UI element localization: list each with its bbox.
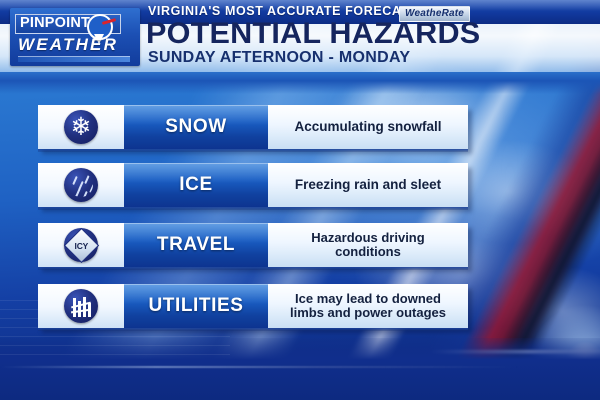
hazard-description-line: conditions bbox=[311, 245, 424, 259]
hazard-desc-panel: Hazardous driving conditions bbox=[268, 223, 468, 267]
hazard-row-ice: ICE Freezing rain and sleet bbox=[38, 163, 468, 207]
hazard-icon-panel bbox=[38, 163, 124, 207]
logo-line2: WEATHER bbox=[18, 35, 118, 55]
hazard-label: ICE bbox=[179, 174, 212, 196]
header-kicker: VIRGINIA'S MOST ACCURATE FORECAST bbox=[148, 4, 419, 18]
hazard-description-line: Ice may lead to downed bbox=[290, 292, 446, 306]
snowflake-icon: ❄ bbox=[64, 110, 98, 144]
logo-underbar bbox=[18, 56, 130, 62]
hazard-icon-panel: ❄ bbox=[38, 105, 124, 149]
row-bevel bbox=[38, 149, 468, 152]
weather-graphic: VIRGINIA'S MOST ACCURATE FORECAST Weathe… bbox=[0, 0, 600, 400]
icy-sign-text: ICY bbox=[74, 240, 88, 250]
hazard-description: Freezing rain and sleet bbox=[289, 178, 447, 193]
hazard-label-panel: ICE bbox=[124, 163, 268, 207]
hazard-row-utilities: UTILITIES Ice may lead to downed limbs a… bbox=[38, 284, 468, 328]
logo-line1: PINPOINT bbox=[20, 15, 90, 31]
hazard-icon-panel bbox=[38, 284, 124, 328]
row-bevel bbox=[38, 207, 468, 210]
hazard-label: SNOW bbox=[165, 116, 227, 138]
hazard-description-line: Hazardous driving bbox=[311, 231, 424, 245]
hazard-label: TRAVEL bbox=[157, 234, 235, 256]
hazard-label: UTILITIES bbox=[148, 295, 243, 317]
hazard-icon-panel: ICY bbox=[38, 223, 124, 267]
header: VIRGINIA'S MOST ACCURATE FORECAST Weathe… bbox=[0, 0, 600, 78]
hazard-row-snow: ❄ SNOW Accumulating snowfall bbox=[38, 105, 468, 149]
icy-road-sign-icon: ICY bbox=[64, 228, 98, 262]
hazard-description: Accumulating snowfall bbox=[288, 120, 447, 135]
hazard-desc-panel: Freezing rain and sleet bbox=[268, 163, 468, 207]
sleet-icon bbox=[64, 168, 98, 202]
background-highlight-line bbox=[0, 366, 520, 368]
hazard-desc-panel: Ice may lead to downed limbs and power o… bbox=[268, 284, 468, 328]
page-title: POTENTIAL HAZARDS bbox=[146, 19, 480, 49]
hazard-desc-panel: Accumulating snowfall bbox=[268, 105, 468, 149]
header-bottom-glow bbox=[0, 72, 600, 94]
row-bevel bbox=[38, 267, 468, 270]
hazard-description: Ice may lead to downed limbs and power o… bbox=[284, 292, 452, 320]
pinpoint-weather-logo: PINPOINT WEATHER bbox=[10, 8, 140, 66]
hazard-label-panel: SNOW bbox=[124, 105, 268, 149]
row-bevel bbox=[38, 328, 468, 331]
hazard-description: Hazardous driving conditions bbox=[305, 231, 430, 259]
hazard-row-travel: ICY TRAVEL Hazardous driving conditions bbox=[38, 223, 468, 267]
hazard-description-line: limbs and power outages bbox=[290, 306, 446, 320]
hazard-label-panel: TRAVEL bbox=[124, 223, 268, 267]
hazard-label-panel: UTILITIES bbox=[124, 284, 268, 328]
power-line-icon bbox=[64, 289, 98, 323]
page-subtitle: SUNDAY AFTERNOON - MONDAY bbox=[148, 50, 410, 66]
